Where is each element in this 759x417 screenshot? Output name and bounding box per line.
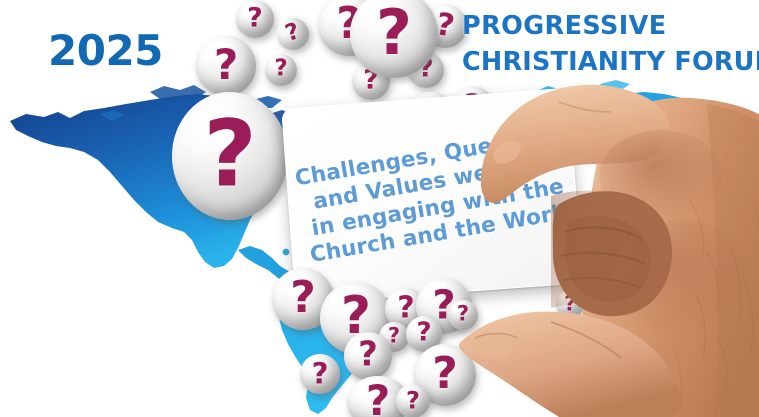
question-mark-sphere: ?	[396, 384, 430, 417]
question-mark-glyph: ?	[376, 4, 412, 61]
page-title: PROGRESSIVE CHRISTIANITY FORUM	[462, 8, 759, 80]
question-mark-glyph: ?	[388, 327, 400, 346]
question-mark-glyph: ?	[290, 278, 316, 318]
year-label: 2025	[48, 26, 163, 75]
question-mark-glyph: ?	[283, 21, 302, 45]
question-mark-sphere: ?	[273, 14, 313, 54]
question-mark-glyph: ?	[214, 46, 238, 85]
question-mark-sphere: ?	[196, 36, 256, 96]
title-line-2: CHRISTIANITY FORUM	[462, 44, 759, 80]
question-mark-glyph: ?	[416, 322, 431, 346]
question-mark-glyph: ?	[457, 305, 469, 324]
question-mark-sphere: ?	[344, 332, 392, 380]
question-mark-sphere: ?	[265, 54, 297, 86]
question-mark-glyph: ?	[366, 382, 390, 417]
question-mark-glyph: ?	[247, 6, 263, 31]
question-mark-glyph: ?	[397, 295, 414, 323]
question-mark-sphere-large: ?	[172, 92, 288, 220]
question-mark-glyph: ?	[432, 354, 458, 394]
question-mark-sphere: ?	[300, 354, 340, 394]
question-mark-glyph: ?	[358, 340, 378, 371]
question-mark-glyph: ?	[406, 390, 420, 412]
question-mark-glyph: ?	[564, 294, 576, 312]
question-mark-glyph: ?	[274, 59, 287, 80]
question-mark-sphere: ?	[448, 300, 478, 330]
message-card[interactable]: Challenges, Questions and Values we face…	[281, 88, 583, 305]
question-mark-glyph: ?	[312, 360, 329, 387]
question-mark-sphere: ?	[236, 0, 274, 38]
question-mark-sphere: ?	[556, 290, 584, 318]
poster-canvas: ? ? ? ? ? ? ? ? ? ? ? ? Challenges, Ques…	[0, 0, 759, 417]
title-line-1: PROGRESSIVE	[462, 8, 759, 44]
question-mark-glyph: ?	[203, 112, 256, 197]
